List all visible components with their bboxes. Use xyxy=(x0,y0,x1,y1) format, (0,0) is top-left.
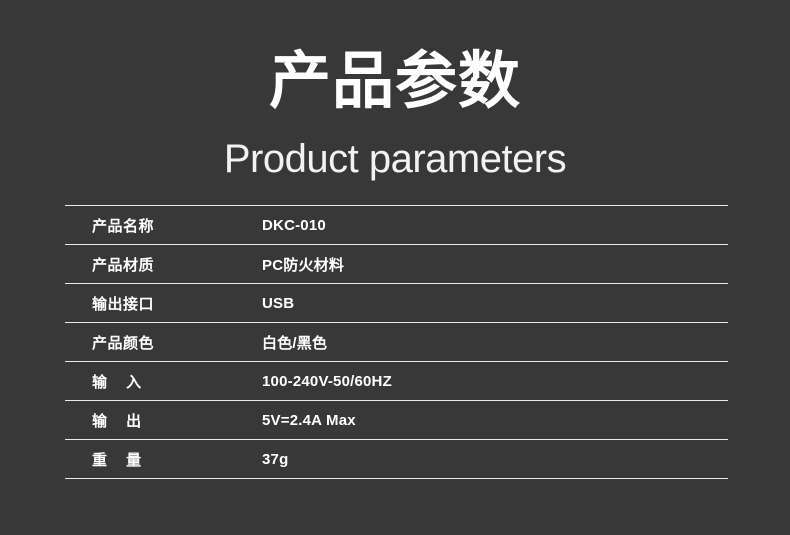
spec-value: 5V=2.4A Max xyxy=(262,401,356,439)
table-row: 重 量 37g xyxy=(65,440,728,479)
spec-value: 白色/黑色 xyxy=(262,323,327,361)
spec-label: 重 量 xyxy=(92,440,142,478)
spec-label: 产品名称 xyxy=(92,206,154,244)
product-parameters-page: 产品参数 Product parameters 产品名称 DKC-010 产品材… xyxy=(0,0,790,535)
table-row: 产品名称 DKC-010 xyxy=(65,206,728,245)
spec-label: 输 入 xyxy=(92,362,142,400)
page-title-cn: 产品参数 xyxy=(0,48,790,116)
spec-label: 产品材质 xyxy=(92,245,154,283)
table-row: 产品材质 PC防火材料 xyxy=(65,245,728,284)
spec-value: 37g xyxy=(262,440,288,478)
spec-label: 输 出 xyxy=(92,401,142,439)
table-row: 输出接口 USB xyxy=(65,284,728,323)
table-row: 输 入 100-240V-50/60HZ xyxy=(65,362,728,401)
spec-value: PC防火材料 xyxy=(262,245,344,283)
spec-value: DKC-010 xyxy=(262,206,326,244)
specification-table: 产品名称 DKC-010 产品材质 PC防火材料 输出接口 USB 产品颜色 白… xyxy=(65,205,728,479)
spec-label: 输出接口 xyxy=(92,284,154,322)
spec-value: USB xyxy=(262,284,294,322)
table-row: 产品颜色 白色/黑色 xyxy=(65,323,728,362)
table-row: 输 出 5V=2.4A Max xyxy=(65,401,728,440)
spec-value: 100-240V-50/60HZ xyxy=(262,362,392,400)
spec-label: 产品颜色 xyxy=(92,323,154,361)
page-title-en: Product parameters xyxy=(0,136,790,182)
